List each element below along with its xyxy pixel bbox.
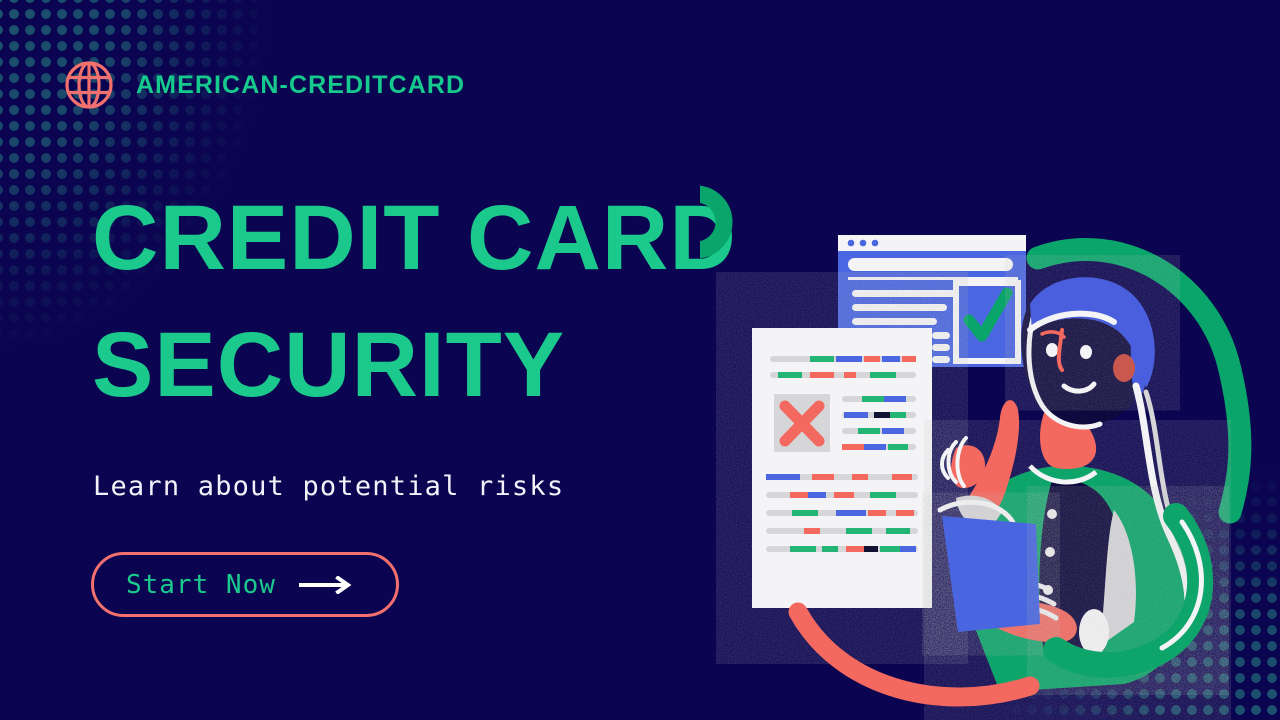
doc-text-line: [842, 428, 916, 434]
doc-text-line: [766, 492, 918, 498]
wrist-cuff: [1079, 609, 1109, 655]
doc-text-line: [766, 510, 918, 516]
doc-text-line: [766, 528, 918, 534]
button-dot: [1047, 509, 1057, 519]
eye: [1080, 345, 1092, 359]
headline-line-2: SECURITY: [92, 302, 792, 429]
red-x-icon: [774, 394, 830, 452]
brand-logo[interactable]: AMERICAN-CREDITCARD: [64, 60, 465, 110]
doc-text-line: [842, 444, 916, 450]
button-dot: [1045, 547, 1055, 557]
doc-text-line: [766, 546, 918, 552]
start-now-label: Start Now: [126, 570, 276, 600]
blue-tablet: [942, 516, 1040, 632]
doc-text-line: [766, 474, 918, 480]
doc-text-line: [770, 372, 916, 378]
subtitle-text: Learn about potential risks: [93, 471, 564, 502]
doc-text-line: [842, 412, 916, 418]
document-sheet: [752, 328, 932, 608]
arrow-right-icon: [298, 576, 354, 594]
security-review-illustration: [700, 180, 1280, 720]
eye: [1046, 343, 1058, 357]
page-title: CREDIT CARD SECURITY: [92, 175, 792, 429]
doc-text-line: [770, 356, 916, 362]
ear: [1113, 354, 1135, 382]
doc-text-line: [842, 396, 916, 402]
green-ring-fragment: [700, 194, 724, 250]
start-now-button[interactable]: Start Now: [91, 552, 399, 617]
poster-canvas: AMERICAN-CREDITCARD CREDIT CARD SECURITY…: [0, 0, 1280, 720]
headline-line-1: CREDIT CARD: [92, 175, 792, 302]
brand-name: AMERICAN-CREDITCARD: [136, 71, 465, 100]
browser-dots-icon: [848, 240, 879, 247]
globe-icon: [64, 60, 114, 110]
